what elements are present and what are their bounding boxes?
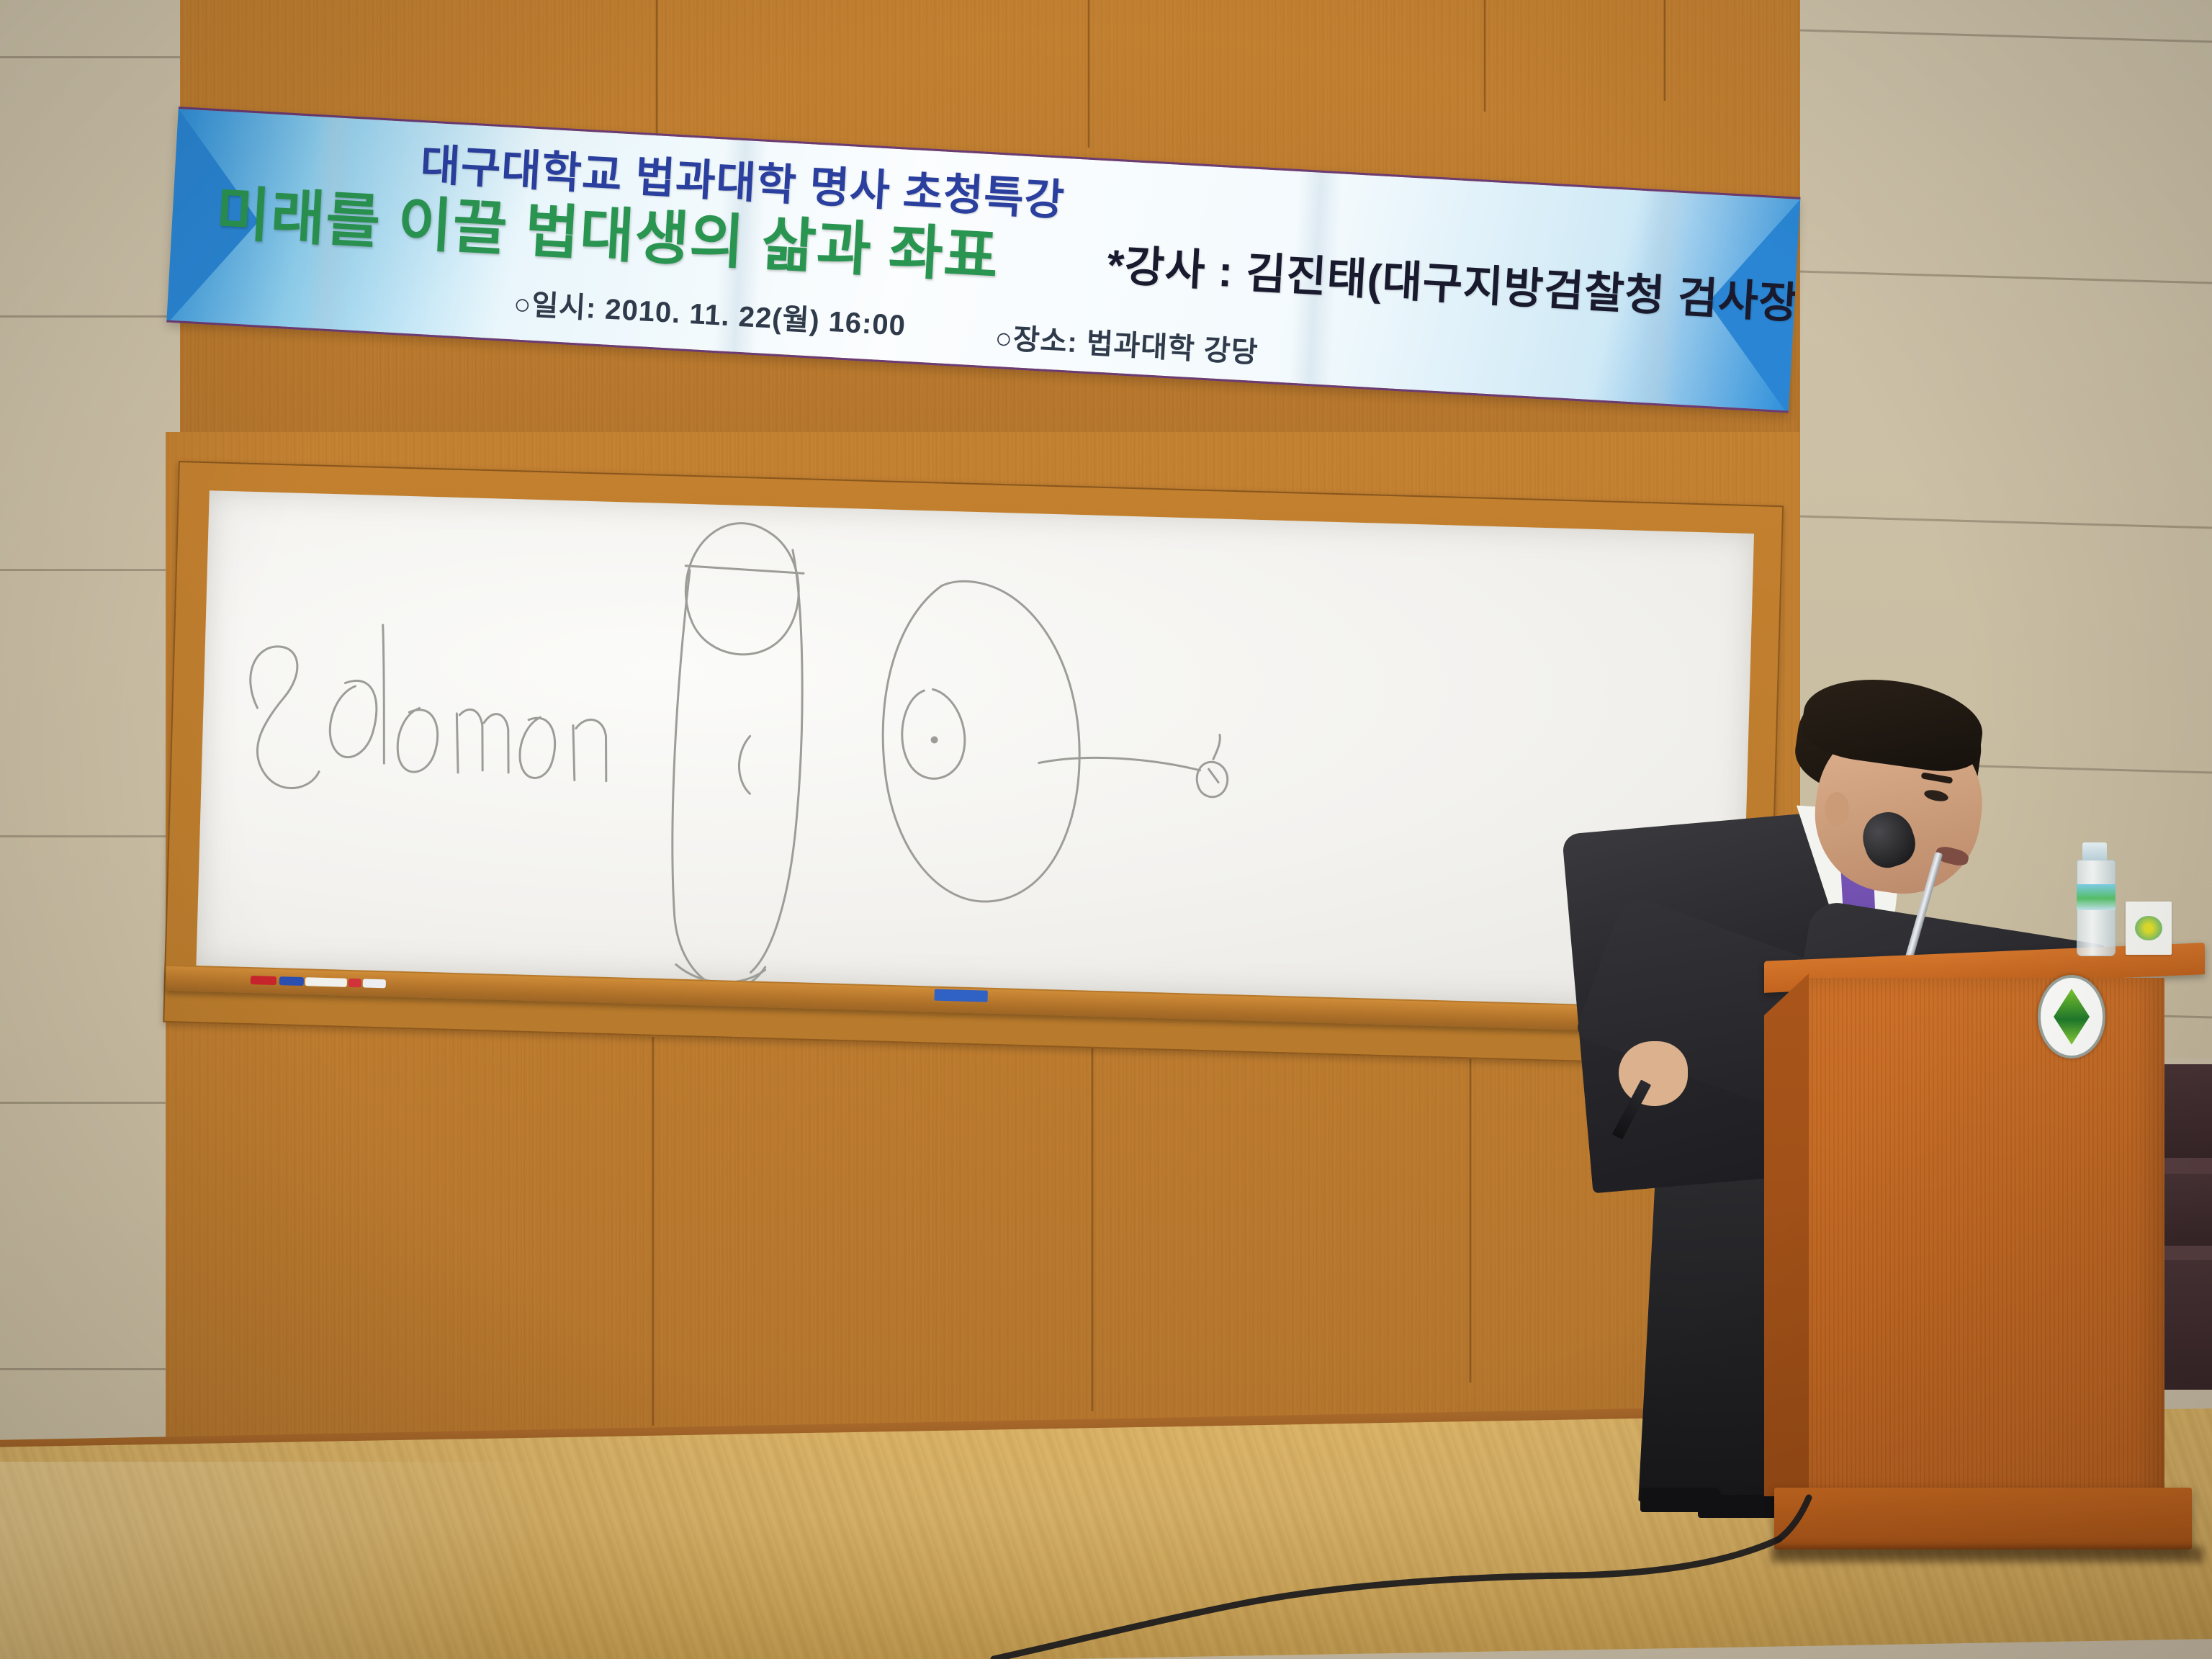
whiteboard-ink-layer	[196, 490, 1754, 1009]
wall-seam-left-1	[0, 56, 189, 58]
lecture-hall-scene: 대구대학교 법과대학 명사 초청특강 미래를 이끌 법대생의 삶과 좌표 *강사…	[0, 0, 2212, 1659]
wall-seam-left-2	[0, 315, 189, 318]
banner-speaker-line: *강사 : 김진태(대구지방검찰청 검사장)	[1106, 230, 1801, 332]
wood-seam-2	[1087, 0, 1090, 148]
wood-seam-3	[1483, 0, 1486, 112]
wood-seam-4	[1663, 0, 1666, 101]
bottle-label	[2077, 884, 2116, 910]
marker-blue-2[interactable]	[363, 979, 386, 988]
paper-cup[interactable]	[2126, 902, 2172, 955]
wall-seam-left-6	[0, 1368, 189, 1370]
whiteboard-surface[interactable]	[196, 490, 1754, 1009]
podium-left-bevel	[1764, 974, 1809, 1496]
podium-front-panel[interactable]	[1807, 978, 2164, 1496]
whiteboard-frame	[163, 461, 1784, 1067]
marker-blue[interactable]	[279, 976, 304, 986]
marker-white[interactable]	[305, 977, 347, 987]
hand-right-holding-pen	[1619, 1041, 1688, 1106]
marker-red[interactable]	[251, 976, 276, 985]
wall-seam-left-3	[0, 569, 189, 571]
cup-logo-icon	[2135, 916, 2162, 940]
wood-seam-lower-3	[1469, 1030, 1472, 1382]
wood-seam-lower-2	[1091, 1037, 1094, 1411]
podium-base-shadow	[1771, 1547, 2203, 1563]
podium-base	[1774, 1488, 2192, 1550]
marker-red-2[interactable]	[349, 979, 361, 987]
bottle-cap	[2082, 842, 2107, 861]
board-eraser[interactable]	[934, 989, 987, 1002]
bottle-icon[interactable]	[2072, 842, 2123, 958]
crest-icon	[2038, 975, 2105, 1058]
wall-seam-left-5	[0, 1102, 189, 1104]
speaking-podium	[1764, 952, 2211, 1600]
crest-leaf-shape	[2054, 989, 2090, 1045]
wall-seam-left-4	[0, 835, 189, 837]
ear	[1825, 792, 1849, 827]
banner-location: ○장소: 법과대학 강당	[994, 315, 1259, 371]
banner-datetime: ○일시: 2010. 11. 22(월) 16:00	[513, 280, 907, 343]
wall-panel-left	[0, 0, 189, 1462]
wood-seam-lower-1	[652, 1037, 655, 1426]
floor-highlight	[0, 1462, 864, 1659]
